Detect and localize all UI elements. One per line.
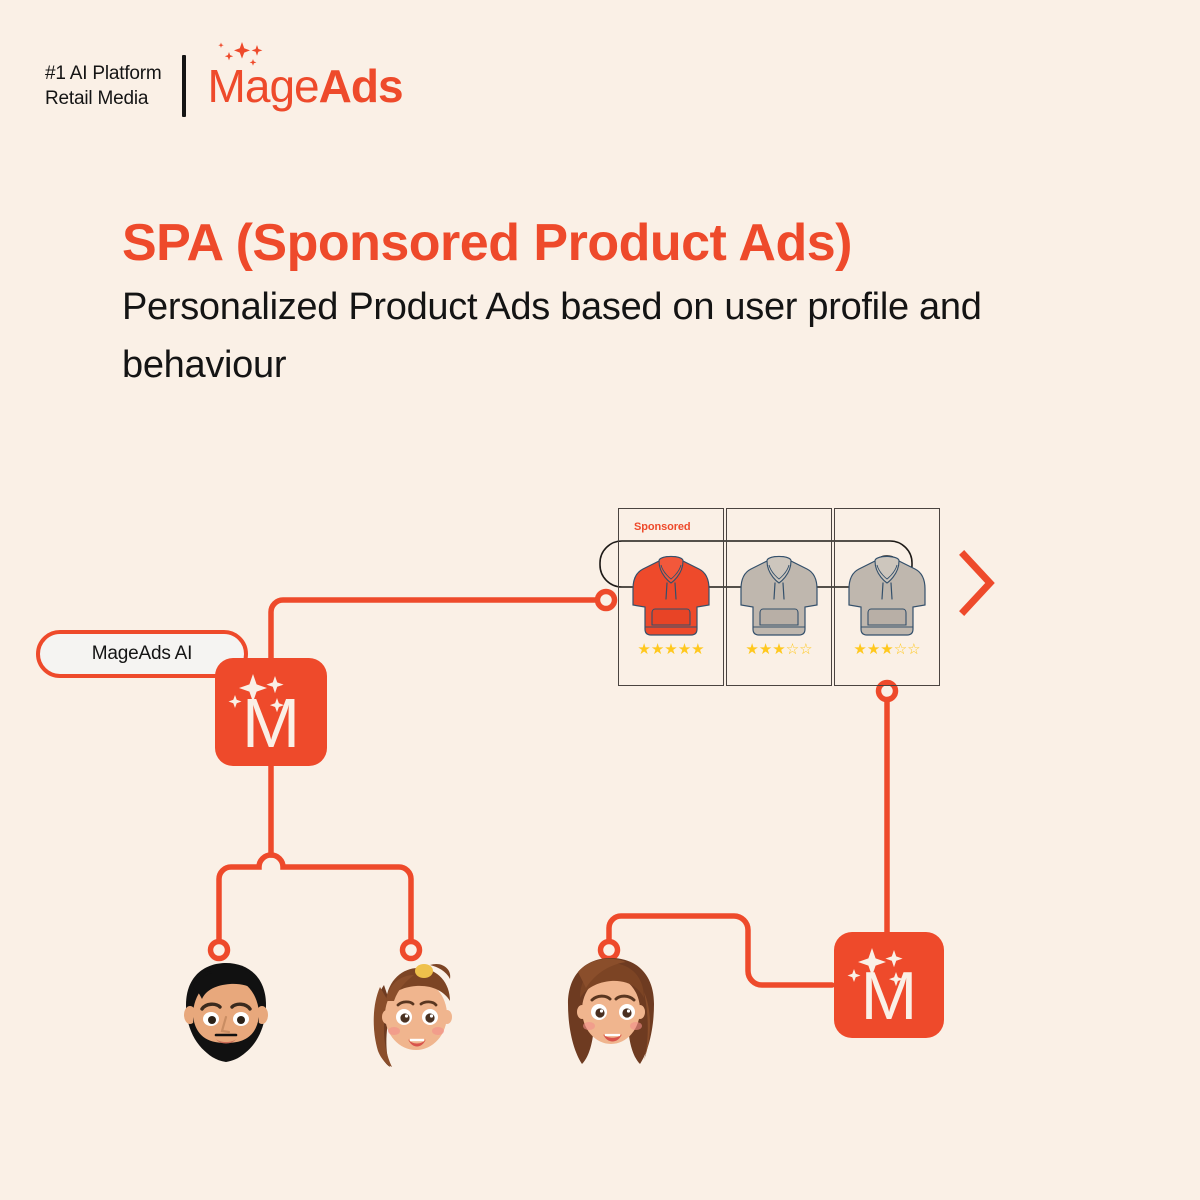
- hoodie-icon: [619, 541, 723, 649]
- wire-node-user1: [211, 942, 228, 959]
- logo-tile-letter: M: [834, 958, 944, 1034]
- product-card[interactable]: Sponsored ★★★★★: [618, 508, 724, 686]
- product-card[interactable]: ★★★☆☆: [726, 508, 832, 686]
- mageads-ai-label: MageAds AI: [92, 643, 192, 665]
- mageads-logo-tile[interactable]: M: [834, 932, 944, 1038]
- rating-stars: ★★★☆☆: [835, 642, 939, 657]
- page-root: #1 AI Platform Retail Media MageAds SPA …: [0, 0, 1200, 1200]
- wire-node-user2: [403, 942, 420, 959]
- wire-ai-to-card: [271, 600, 598, 662]
- girl-ponytail-avatar: [358, 957, 464, 1069]
- bearded-man-avatar: [172, 957, 280, 1067]
- rating-stars: ★★★★★: [619, 642, 723, 657]
- product-card-strip[interactable]: Sponsored ★★★★★: [618, 508, 940, 686]
- hoodie-icon: [835, 541, 939, 649]
- wire-ai-to-users: [219, 766, 411, 940]
- mageads-logo-tile[interactable]: M: [215, 658, 327, 766]
- rating-stars: ★★★☆☆: [727, 642, 831, 657]
- chevron-right-icon[interactable]: [958, 550, 998, 616]
- logo-tile-letter: M: [215, 684, 327, 762]
- flow-diagram: Sponsored ★★★★★: [0, 0, 1200, 1200]
- product-card[interactable]: ★★★☆☆: [834, 508, 940, 686]
- hoodie-icon: [727, 541, 831, 649]
- wire-node-card1: [598, 592, 615, 609]
- woman-long-hair-avatar: [556, 952, 666, 1070]
- sponsored-badge: Sponsored: [634, 521, 691, 533]
